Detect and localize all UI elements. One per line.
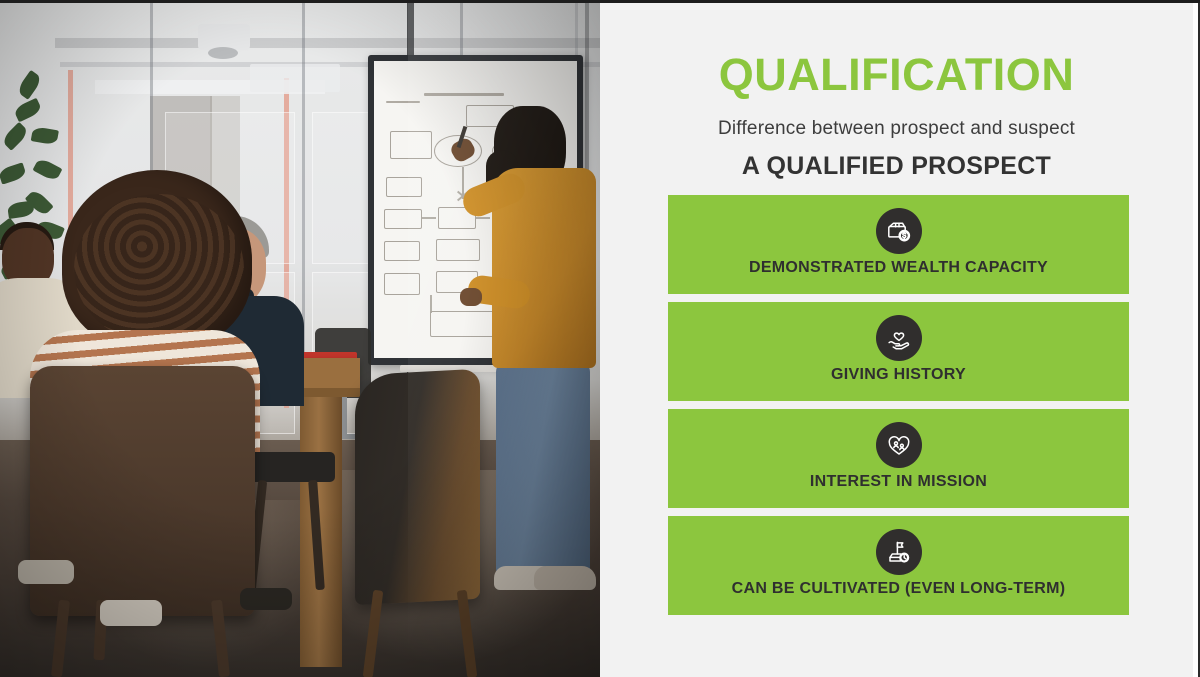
hand-holding-heart-icon [876,315,922,361]
photo-vignette [0,0,600,677]
criteria-band-giving-history[interactable]: GIVING HISTORY [668,302,1129,401]
content-panel: QUALIFICATION Difference between prospec… [600,0,1193,677]
criteria-band-interest-in-mission[interactable]: INTEREST IN MISSION [668,409,1129,508]
slide: QUALIFICATION Difference between prospec… [0,0,1200,677]
wallet-dollar-icon [876,208,922,254]
page-subtitle: Difference between prospect and suspect [600,118,1193,140]
criteria-band-can-be-cultivated[interactable]: CAN BE CULTIVATED (EVEN LONG-TERM) [668,516,1129,615]
criteria-band-wealth-capacity[interactable]: DEMONSTRATED WEALTH CAPACITY [668,195,1129,294]
criteria-label: CAN BE CULTIVATED (EVEN LONG-TERM) [668,580,1129,598]
top-divider-rule [0,0,1200,3]
criteria-label: DEMONSTRATED WEALTH CAPACITY [668,259,1129,277]
criteria-label: INTEREST IN MISSION [668,473,1129,491]
qualification-criteria-list: DEMONSTRATED WEALTH CAPACITY GIVING HIST… [668,195,1129,623]
section-heading: A QUALIFIED PROSPECT [600,152,1193,181]
criteria-label: GIVING HISTORY [668,366,1129,384]
flag-milestone-clock-icon [876,529,922,575]
heart-people-icon [876,422,922,468]
page-title: QUALIFICATION [600,52,1193,97]
meeting-photo [0,0,600,677]
